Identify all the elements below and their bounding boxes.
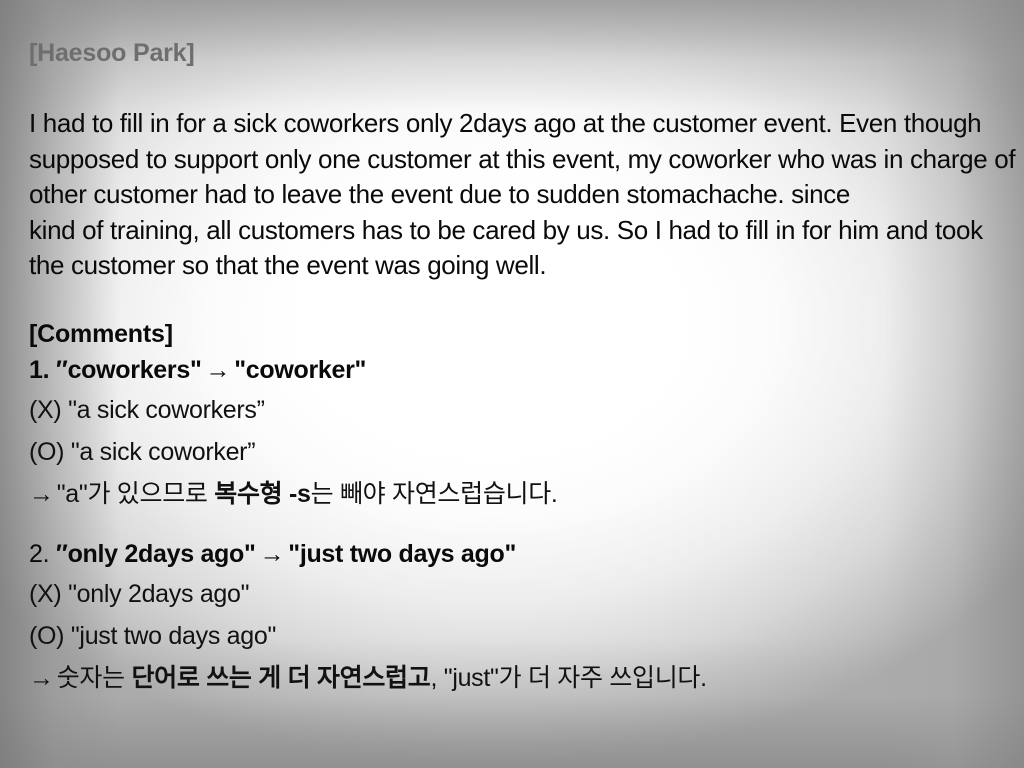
- comment-wrong-example: (X) "a sick coworkers”: [29, 389, 1024, 431]
- wrong-example-text: "only 2days ago": [68, 580, 249, 608]
- comment-wrong-example: (X) "only 2days ago": [29, 573, 1024, 615]
- comment-item-title: 1. ″coworkers"→"coworker": [29, 351, 1024, 389]
- comment-right-term: "coworker": [234, 356, 366, 384]
- author-name: [Haesoo Park]: [29, 36, 1024, 70]
- spacer: [29, 70, 1024, 106]
- explanation-emphasis: 단어로 쓰는 게 더 자연스럽고: [131, 664, 430, 692]
- wrong-marker: (X): [29, 580, 61, 608]
- paragraph-line: supposed to support only one customer at…: [29, 142, 1024, 178]
- comment-right-example: (O) "a sick coworker”: [29, 431, 1024, 473]
- explanation-pre: "a"가 있으므로: [57, 480, 215, 508]
- arrow-icon: →: [29, 480, 57, 508]
- comment-item-number: 1.: [29, 356, 49, 384]
- arrow-icon: →: [256, 540, 289, 568]
- explanation-post: , "just"가 더 자주 쓰입니다.: [430, 664, 706, 692]
- arrow-icon: →: [29, 664, 57, 692]
- comment-right-term: "just two days ago": [288, 540, 516, 568]
- comment-right-example: (O) "just two days ago": [29, 615, 1024, 657]
- spacer: [29, 515, 1024, 535]
- comment-explanation: →"a"가 있으므로 복수형 -s는 빼야 자연스럽습니다.: [29, 473, 1024, 515]
- right-marker: (O): [29, 622, 64, 650]
- comment-item-number: 2.: [29, 540, 49, 568]
- right-example-text: "just two days ago": [71, 622, 276, 650]
- spacer: [29, 284, 1024, 317]
- comment-wrong-term: ″coworkers": [56, 356, 202, 384]
- paragraph-line: kind of training, all customers has to b…: [29, 213, 1024, 249]
- explanation-post: 는 빼야 자연스럽습니다.: [311, 480, 558, 508]
- slide-canvas: [Haesoo Park] I had to fill in for a sic…: [0, 0, 1024, 768]
- body-paragraph: I had to fill in for a sick coworkers on…: [29, 106, 1024, 284]
- right-marker: (O): [29, 438, 64, 466]
- comments-heading: [Comments]: [29, 317, 1024, 351]
- explanation-emphasis: 복수형 -s: [214, 480, 310, 508]
- wrong-example-text: "a sick coworkers”: [68, 396, 265, 424]
- explanation-pre: 숫자는: [57, 664, 132, 692]
- right-example-text: "a sick coworker”: [71, 438, 255, 466]
- paragraph-line: I had to fill in for a sick coworkers on…: [29, 106, 1024, 142]
- comment-item-2: 2. ″only 2days ago"→"just two days ago" …: [29, 535, 1024, 699]
- comment-wrong-term: ″only 2days ago": [56, 540, 256, 568]
- paragraph-line: the customer so that the event was going…: [29, 248, 1024, 284]
- paragraph-line: other customer had to leave the event du…: [29, 177, 1024, 213]
- comment-item-1: 1. ″coworkers"→"coworker" (X) "a sick co…: [29, 351, 1024, 515]
- arrow-icon: →: [202, 356, 235, 384]
- wrong-marker: (X): [29, 396, 61, 424]
- slide-content: [Haesoo Park] I had to fill in for a sic…: [0, 0, 1024, 768]
- comment-explanation: →숫자는 단어로 쓰는 게 더 자연스럽고, "just"가 더 자주 쓰입니다…: [29, 657, 1024, 699]
- comment-item-title: 2. ″only 2days ago"→"just two days ago": [29, 535, 1024, 573]
